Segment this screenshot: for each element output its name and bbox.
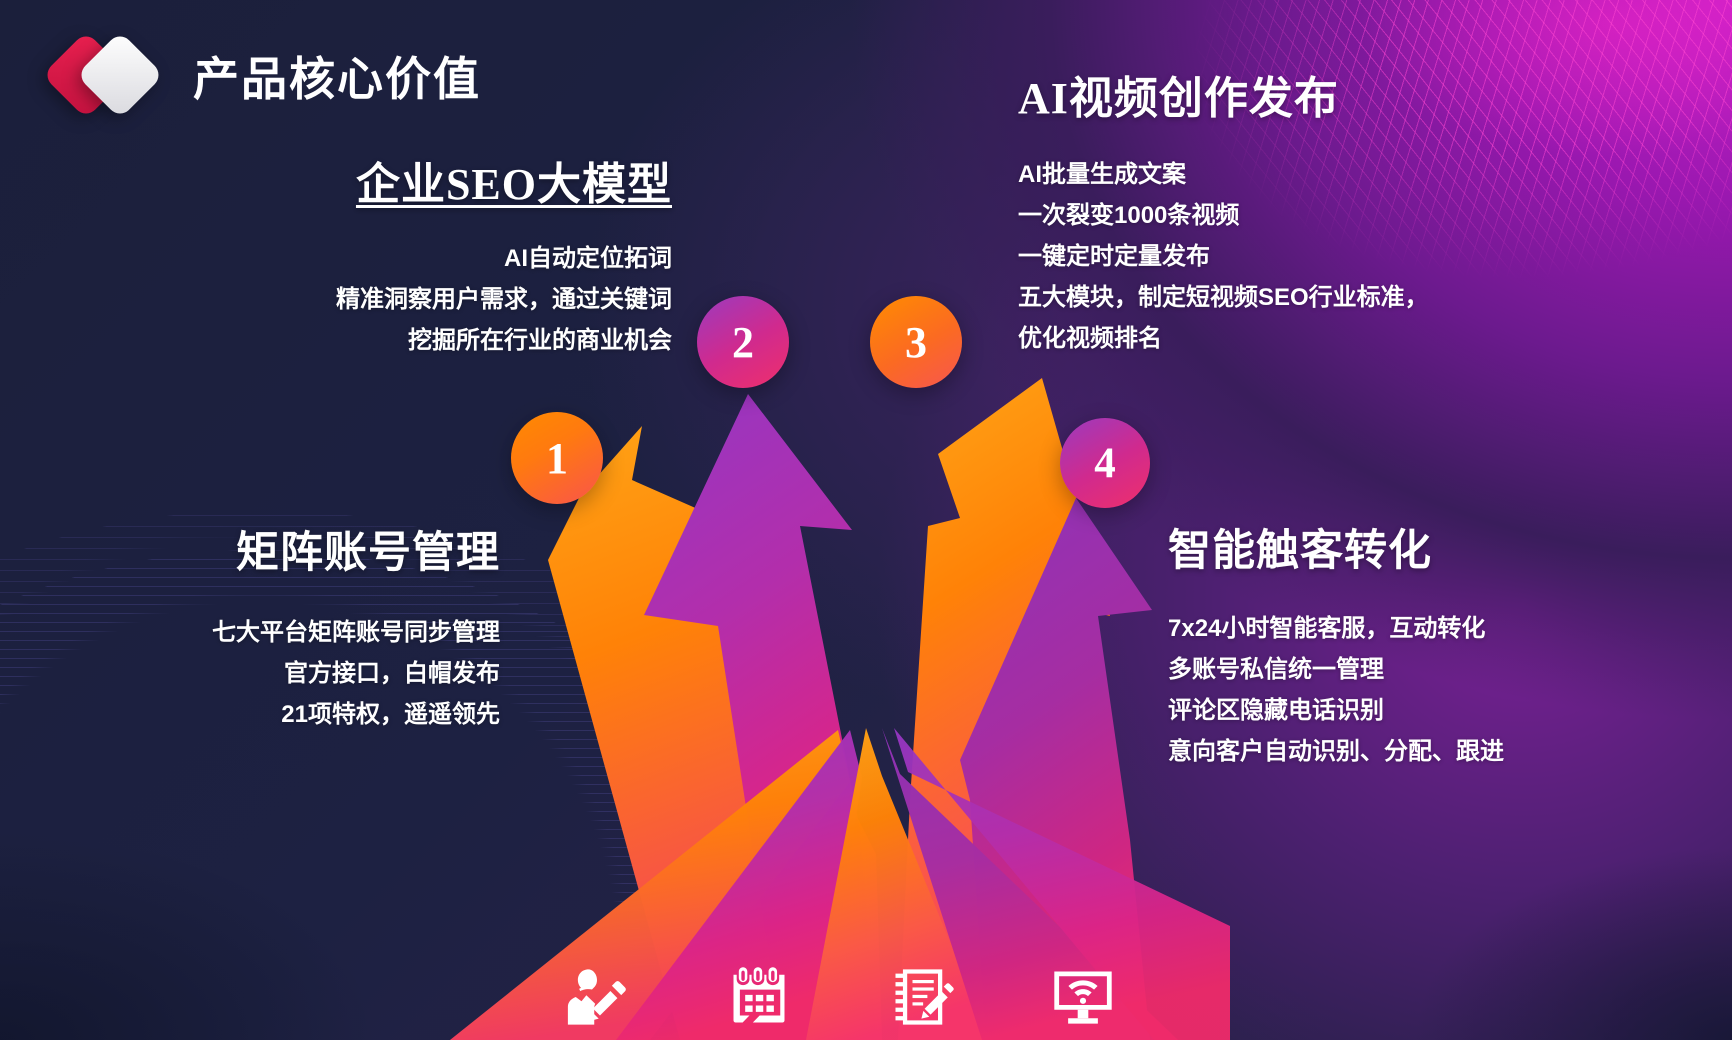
slide-canvas: 产品核心价值 xyxy=(0,0,1732,1040)
feature-block-seo: 企业SEO大模型 AI自动定位拓词 精准洞察用户需求，通过关键词 挖掘所在行业的… xyxy=(160,148,672,361)
step-badge-3[interactable]: 3 xyxy=(870,296,962,388)
calendar-icon xyxy=(722,960,796,1034)
step-badge-2-number: 2 xyxy=(732,317,754,368)
feature-heading-video: AI视频创作发布 xyxy=(1018,62,1618,126)
step-badge-4[interactable]: 4 xyxy=(1060,418,1150,508)
feature-heading-seo: 企业SEO大模型 xyxy=(160,148,672,212)
feature-line: 评论区隐藏电话识别 xyxy=(1168,690,1588,731)
page-title: 产品核心价值 xyxy=(193,43,481,109)
notepad-pencil-icon xyxy=(884,960,958,1034)
feature-heading-convert: 智能触客转化 xyxy=(1168,516,1588,578)
feature-list-seo: AI自动定位拓词 精准洞察用户需求，通过关键词 挖掘所在行业的商业机会 xyxy=(160,238,672,361)
feature-line: 21项特权，遥遥领先 xyxy=(130,694,500,735)
feature-line: 精准洞察用户需求，通过关键词 xyxy=(160,279,672,320)
bottom-icon-strip xyxy=(560,914,1120,1034)
step-badge-4-number: 4 xyxy=(1094,439,1116,488)
feature-line: 官方接口，白帽发布 xyxy=(130,653,500,694)
feature-line: 五大模块，制定短视频SEO行业标准， xyxy=(1018,277,1618,318)
monitor-wifi-icon xyxy=(1046,960,1120,1034)
feature-line: 优化视频排名 xyxy=(1018,318,1618,359)
feature-line: 7x24小时智能客服，互动转化 xyxy=(1168,608,1588,649)
feature-line: AI批量生成文案 xyxy=(1018,154,1618,195)
feature-line: 一键定时定量发布 xyxy=(1018,236,1618,277)
step-badge-3-number: 3 xyxy=(905,317,927,368)
step-badge-1-number: 1 xyxy=(546,433,568,484)
feature-list-convert: 7x24小时智能客服，互动转化 多账号私信统一管理 评论区隐藏电话识别 意向客户… xyxy=(1168,608,1588,772)
brand-header: 产品核心价值 xyxy=(55,34,481,118)
feature-block-convert: 智能触客转化 7x24小时智能客服，互动转化 多账号私信统一管理 评论区隐藏电话… xyxy=(1168,516,1588,772)
feature-line: AI自动定位拓词 xyxy=(160,238,672,279)
feature-line: 一次裂变1000条视频 xyxy=(1018,195,1618,236)
feature-line: 多账号私信统一管理 xyxy=(1168,649,1588,690)
feature-block-matrix: 矩阵账号管理 七大平台矩阵账号同步管理 官方接口，白帽发布 21项特权，遥遥领先 xyxy=(130,518,500,735)
step-badge-2[interactable]: 2 xyxy=(697,296,789,388)
feature-list-matrix: 七大平台矩阵账号同步管理 官方接口，白帽发布 21项特权，遥遥领先 xyxy=(130,612,500,735)
step-badge-1[interactable]: 1 xyxy=(511,412,603,504)
feature-line: 七大平台矩阵账号同步管理 xyxy=(130,612,500,653)
feature-line: 挖掘所在行业的商业机会 xyxy=(160,320,672,361)
feature-block-video: AI视频创作发布 AI批量生成文案 一次裂变1000条视频 一键定时定量发布 五… xyxy=(1018,62,1618,359)
person-edit-icon xyxy=(560,960,634,1034)
feature-line: 意向客户自动识别、分配、跟进 xyxy=(1168,731,1588,772)
feature-list-video: AI批量生成文案 一次裂变1000条视频 一键定时定量发布 五大模块，制定短视频… xyxy=(1018,154,1618,359)
brand-diamond-logo xyxy=(55,34,167,118)
feature-heading-matrix: 矩阵账号管理 xyxy=(130,518,500,580)
